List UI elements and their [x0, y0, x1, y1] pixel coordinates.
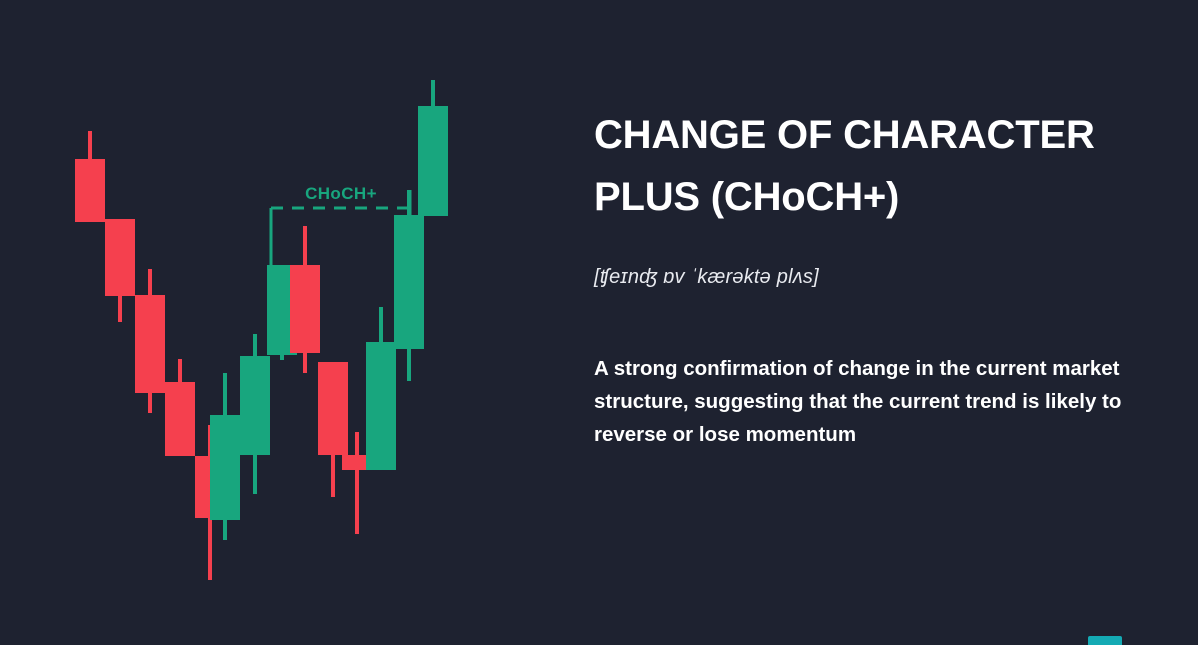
definition-text: A strong confirmation of change in the c…: [594, 352, 1154, 451]
candle-body-bullish: [418, 106, 448, 216]
slide-root: CHoCH+ CHANGE OF CHARACTER PLUS (CHoCH+)…: [0, 0, 1198, 645]
candles-group: [75, 80, 448, 580]
candlestick-chart: CHoCH+: [0, 0, 560, 645]
candlestick-svg: CHoCH+: [0, 0, 560, 645]
candle-body-bearish: [135, 295, 165, 393]
candle-body-bullish: [366, 342, 396, 470]
choch-plus-label: CHoCH+: [305, 184, 377, 203]
brand-mark-icon: [1088, 636, 1122, 645]
candle-body-bullish: [210, 415, 240, 520]
text-panel: CHANGE OF CHARACTER PLUS (CHoCH+) [ʧeɪnʤ…: [594, 0, 1198, 645]
candle-wick: [355, 432, 359, 534]
page-title: CHANGE OF CHARACTER PLUS (CHoCH+): [594, 104, 1198, 228]
candle-body-bearish: [75, 159, 105, 222]
candle-body-bearish: [290, 265, 320, 353]
candle-body-bearish: [105, 219, 135, 296]
phonetic-transcription: [ʧeɪnʤ ɒv ˈkærəktə plʌs]: [594, 266, 1198, 289]
candle-body-bearish: [165, 382, 195, 456]
candle-body-bullish: [394, 215, 424, 349]
candle-body-bullish: [240, 356, 270, 455]
candle-body-bearish: [318, 362, 348, 455]
